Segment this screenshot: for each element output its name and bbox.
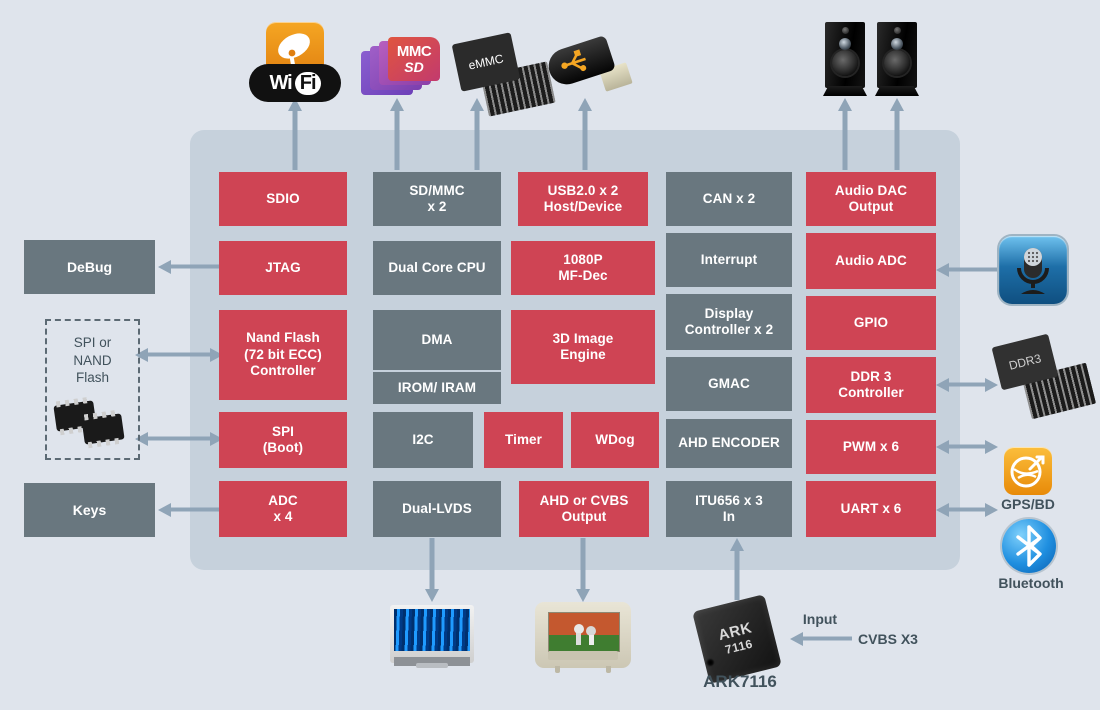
external-label: Keys [73, 502, 106, 518]
sd-card-icon: MMC SD [361, 37, 443, 99]
arrow-nandflash-bidirectional [135, 348, 223, 362]
gps-caption: GPS/BD [988, 496, 1068, 512]
block-interrupt[interactable]: Interrupt [666, 233, 792, 287]
block-audio-dac-output[interactable]: Audio DAC Output [806, 172, 936, 226]
block-label: 3D Image Engine [553, 331, 614, 364]
ddr3-chip-icon: DDR3 [996, 340, 1096, 416]
wifi-text-fi: Fi [295, 72, 321, 95]
block-label: IROM/ IRAM [398, 380, 476, 396]
block-label: WDog [595, 432, 634, 448]
lcd-monitor-icon [390, 605, 474, 669]
block-1080p-mf-dec[interactable]: 1080P MF-Dec [511, 241, 655, 295]
wifi-wordmark: Wi Fi [249, 64, 341, 102]
external-debug-box[interactable]: DeBug [24, 240, 155, 294]
monitor-frame [390, 605, 474, 663]
block-can-x2[interactable]: CAN x 2 [666, 172, 792, 226]
block-label: Audio DAC Output [835, 183, 907, 216]
block-usb20-x2[interactable]: USB2.0 x 2 Host/Device [518, 172, 648, 226]
block-uart-x6[interactable]: UART x 6 [806, 481, 936, 537]
block-sd-mmc-x2[interactable]: SD/MMC x 2 [373, 172, 501, 226]
block-ddr3-controller[interactable]: DDR 3 Controller [806, 357, 936, 413]
block-i2c[interactable]: I2C [373, 412, 473, 468]
speaker-icon-right [875, 22, 919, 100]
block-label: Dual Core CPU [388, 260, 485, 276]
block-irom-iram[interactable]: IROM/ IRAM [373, 372, 501, 404]
gps-icon [1004, 447, 1052, 495]
block-3d-image-engine[interactable]: 3D Image Engine [511, 310, 655, 384]
block-timer[interactable]: Timer [484, 412, 563, 468]
gps-tile [1004, 447, 1052, 495]
emmc-chip-icon: eMMC [456, 38, 560, 102]
arrow-cvbs-input-to-ark [790, 632, 852, 646]
arrow-mic-to-audioadc [936, 263, 998, 277]
block-label: SD/MMC x 2 [409, 183, 464, 216]
block-label: 1080P MF-Dec [558, 252, 607, 285]
block-label: PWM x 6 [843, 439, 899, 455]
block-nand-flash-controller[interactable]: Nand Flash (72 bit ECC) Controller [219, 310, 347, 400]
external-label: SPI or NAND Flash [47, 334, 138, 387]
block-spi-boot[interactable]: SPI (Boot) [219, 412, 347, 468]
headrest-tv-icon [535, 602, 631, 676]
monitor-stand [416, 663, 448, 668]
block-label: GPIO [854, 315, 888, 331]
arrow-spiboot-bidirectional [135, 432, 223, 446]
block-label: Audio ADC [835, 253, 907, 269]
external-label: DeBug [67, 259, 112, 275]
block-label: SPI (Boot) [263, 424, 303, 457]
wifi-icon: Wi Fi [266, 22, 358, 102]
mmc-text: MMC [397, 44, 431, 59]
block-label: Interrupt [701, 252, 757, 268]
block-label: ITU656 x 3 In [695, 493, 763, 526]
emmc-text: eMMC [467, 51, 504, 72]
arrow-cvbs-to-tv [576, 538, 590, 602]
block-dual-core-cpu[interactable]: Dual Core CPU [373, 241, 501, 295]
arrow-jtag-to-debug [158, 260, 222, 274]
block-label: ADC x 4 [268, 493, 298, 526]
tv-screen [548, 612, 620, 652]
arrow-sdmmc-to-emmc [470, 98, 484, 170]
block-label: Dual-LVDS [402, 501, 472, 517]
block-dma[interactable]: DMA [373, 310, 501, 370]
block-label: I2C [412, 432, 433, 448]
block-label: UART x 6 [841, 501, 902, 517]
ark-chip-marking: ARK 7116 [692, 594, 782, 684]
block-label: USB2.0 x 2 Host/Device [544, 183, 622, 216]
bluetooth-icon [1002, 519, 1056, 573]
arrow-usb-to-stick [578, 98, 592, 170]
block-ahd-encoder[interactable]: AHD ENCODER [666, 419, 792, 468]
microphone-icon [999, 236, 1067, 304]
block-label: Display Controller x 2 [685, 306, 773, 339]
sd-text: SD [404, 60, 423, 74]
ark-caption: ARK7116 [688, 672, 792, 692]
arrow-pwm-to-gps [936, 440, 998, 454]
arrow-adc-to-keys [158, 503, 222, 517]
input-label: Input [790, 611, 850, 627]
monitor-screen [394, 609, 470, 651]
block-label: AHD ENCODER [678, 435, 780, 451]
block-display-controller-x2[interactable]: Display Controller x 2 [666, 294, 792, 350]
microphone-tile [999, 236, 1067, 304]
block-pwm-x6[interactable]: PWM x 6 [806, 420, 936, 474]
block-label: Nand Flash (72 bit ECC) Controller [244, 330, 322, 379]
block-label: DDR 3 Controller [838, 369, 904, 402]
block-gmac[interactable]: GMAC [666, 357, 792, 411]
cvbs-label: CVBS X3 [848, 631, 928, 647]
arrow-audiodac-to-speaker-left [838, 98, 852, 170]
block-label: SDIO [266, 191, 299, 207]
arrow-sdmmc-to-card [390, 98, 404, 170]
flash-chip-icon-2 [81, 413, 124, 444]
wifi-text-wi: Wi [269, 72, 291, 95]
block-label: JTAG [265, 260, 300, 276]
block-dual-lvds[interactable]: Dual-LVDS [373, 481, 501, 537]
arrow-lvds-to-monitor [425, 538, 439, 602]
block-label: AHD or CVBS Output [540, 493, 629, 526]
block-sdio[interactable]: SDIO [219, 172, 347, 226]
bluetooth-tile [1002, 519, 1056, 573]
tv-foot-right [606, 666, 611, 673]
arrow-audiodac-to-speaker-right [890, 98, 904, 170]
usb-stick-icon [548, 38, 638, 100]
tv-foot-left [555, 666, 560, 673]
diagram-canvas: SDIO JTAG Nand Flash (72 bit ECC) Contro… [0, 0, 1100, 710]
block-ahd-cvbs-output[interactable]: AHD or CVBS Output [519, 481, 649, 537]
tv-button-bar [548, 651, 618, 660]
block-wdog[interactable]: WDog [571, 412, 659, 468]
external-spi-nand-flash-group: SPI or NAND Flash [45, 319, 140, 460]
block-label: GMAC [708, 376, 750, 392]
arrow-ark-to-itu656 [730, 538, 744, 600]
speaker-icon-left [823, 22, 867, 100]
sd-card-front: MMC SD [388, 37, 440, 81]
external-keys-box[interactable]: Keys [24, 483, 155, 537]
block-label: DMA [421, 332, 452, 348]
block-audio-adc[interactable]: Audio ADC [806, 233, 936, 289]
block-adc-x4[interactable]: ADC x 4 [219, 481, 347, 537]
arrow-sdio-to-wifi [288, 98, 302, 170]
bluetooth-caption: Bluetooth [986, 575, 1076, 591]
block-jtag[interactable]: JTAG [219, 241, 347, 295]
block-itu656-x3-in[interactable]: ITU656 x 3 In [666, 481, 792, 537]
block-label: CAN x 2 [703, 191, 755, 207]
block-gpio[interactable]: GPIO [806, 296, 936, 350]
ark-chip-icon: ARK 7116 [700, 602, 780, 682]
ddr3-text: DDR3 [1007, 351, 1042, 372]
block-label: Timer [505, 432, 542, 448]
arrow-ddr3-bidirectional [936, 378, 998, 392]
